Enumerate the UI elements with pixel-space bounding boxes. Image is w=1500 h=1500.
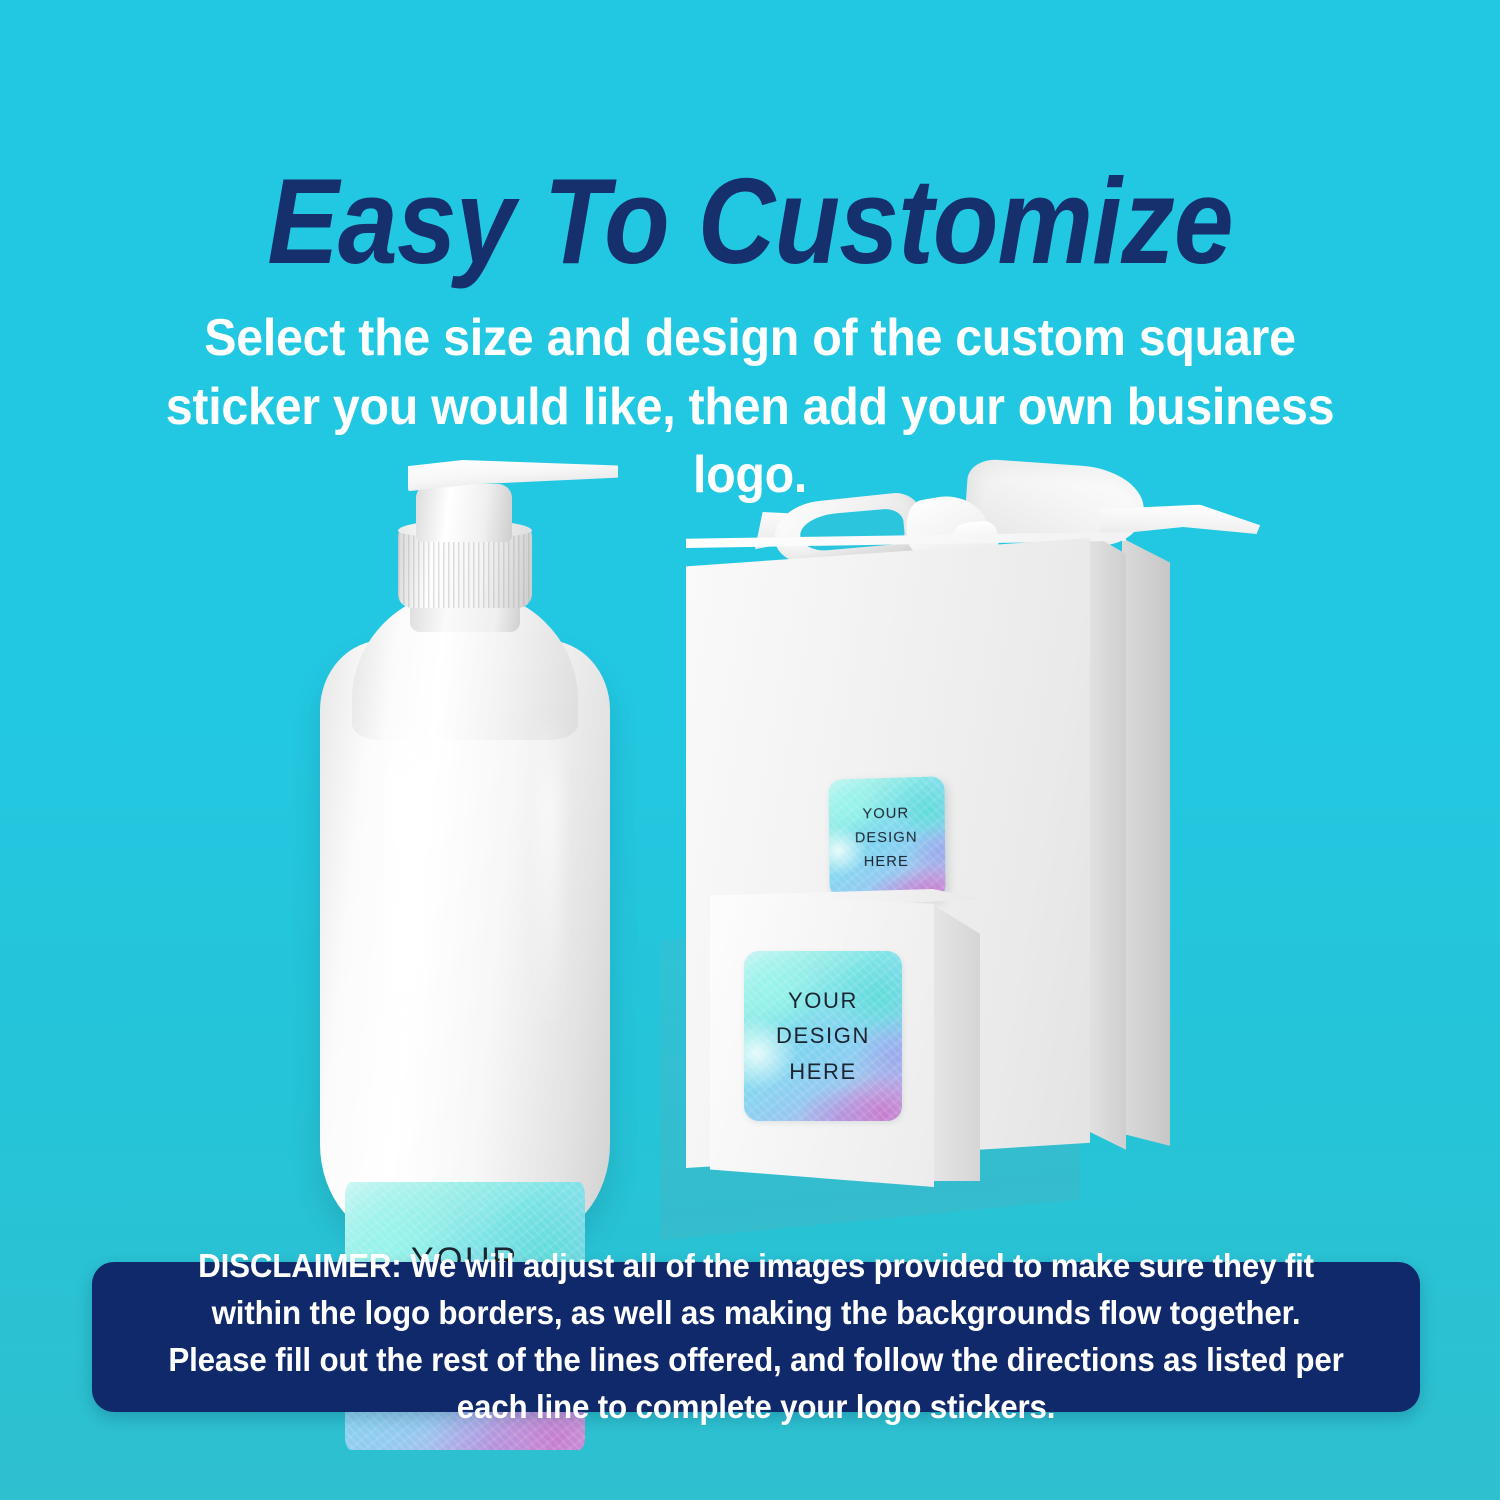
sticker-text-block: YOUR DESIGN HERE — [744, 951, 902, 1121]
small-box-right-side — [932, 897, 980, 1181]
sticker-text-block: YOUR DESIGN HERE — [829, 776, 946, 898]
sticker-line-2: DESIGN — [776, 1018, 870, 1053]
promo-graphic: Easy To Customize Select the size and de… — [0, 0, 1500, 1500]
sticker-line-3: HERE — [789, 1054, 857, 1089]
product-mockup-scene: YOUR DESIGN HERE YOUR DESIGN HERE — [0, 400, 1500, 1230]
bottle-highlight-right — [536, 710, 562, 1040]
sticker-line-1: YOUR — [862, 801, 909, 826]
page-title: Easy To Customize — [90, 160, 1410, 282]
gift-box-back-side — [1122, 538, 1170, 1152]
bottle-highlight-left — [384, 690, 428, 1110]
sticker-line-2: DESIGN — [855, 825, 918, 850]
sticker-line-1: YOUR — [788, 983, 858, 1018]
pump-bottle-mockup: YOUR DESIGN HERE — [300, 440, 630, 1240]
disclaimer-banner: DISCLAIMER: We will adjust all of the im… — [92, 1262, 1420, 1412]
sticker-on-small-box: YOUR DESIGN HERE — [744, 951, 902, 1121]
disclaimer-text: DISCLAIMER: We will adjust all of the im… — [162, 1243, 1350, 1430]
gift-box-right-side — [1088, 532, 1126, 1156]
small-product-box-mockup: YOUR DESIGN HERE — [690, 885, 1000, 1205]
sticker-line-3: HERE — [864, 850, 909, 874]
pump-stem — [416, 484, 512, 542]
sticker-on-gift-box: YOUR DESIGN HERE — [829, 776, 946, 898]
